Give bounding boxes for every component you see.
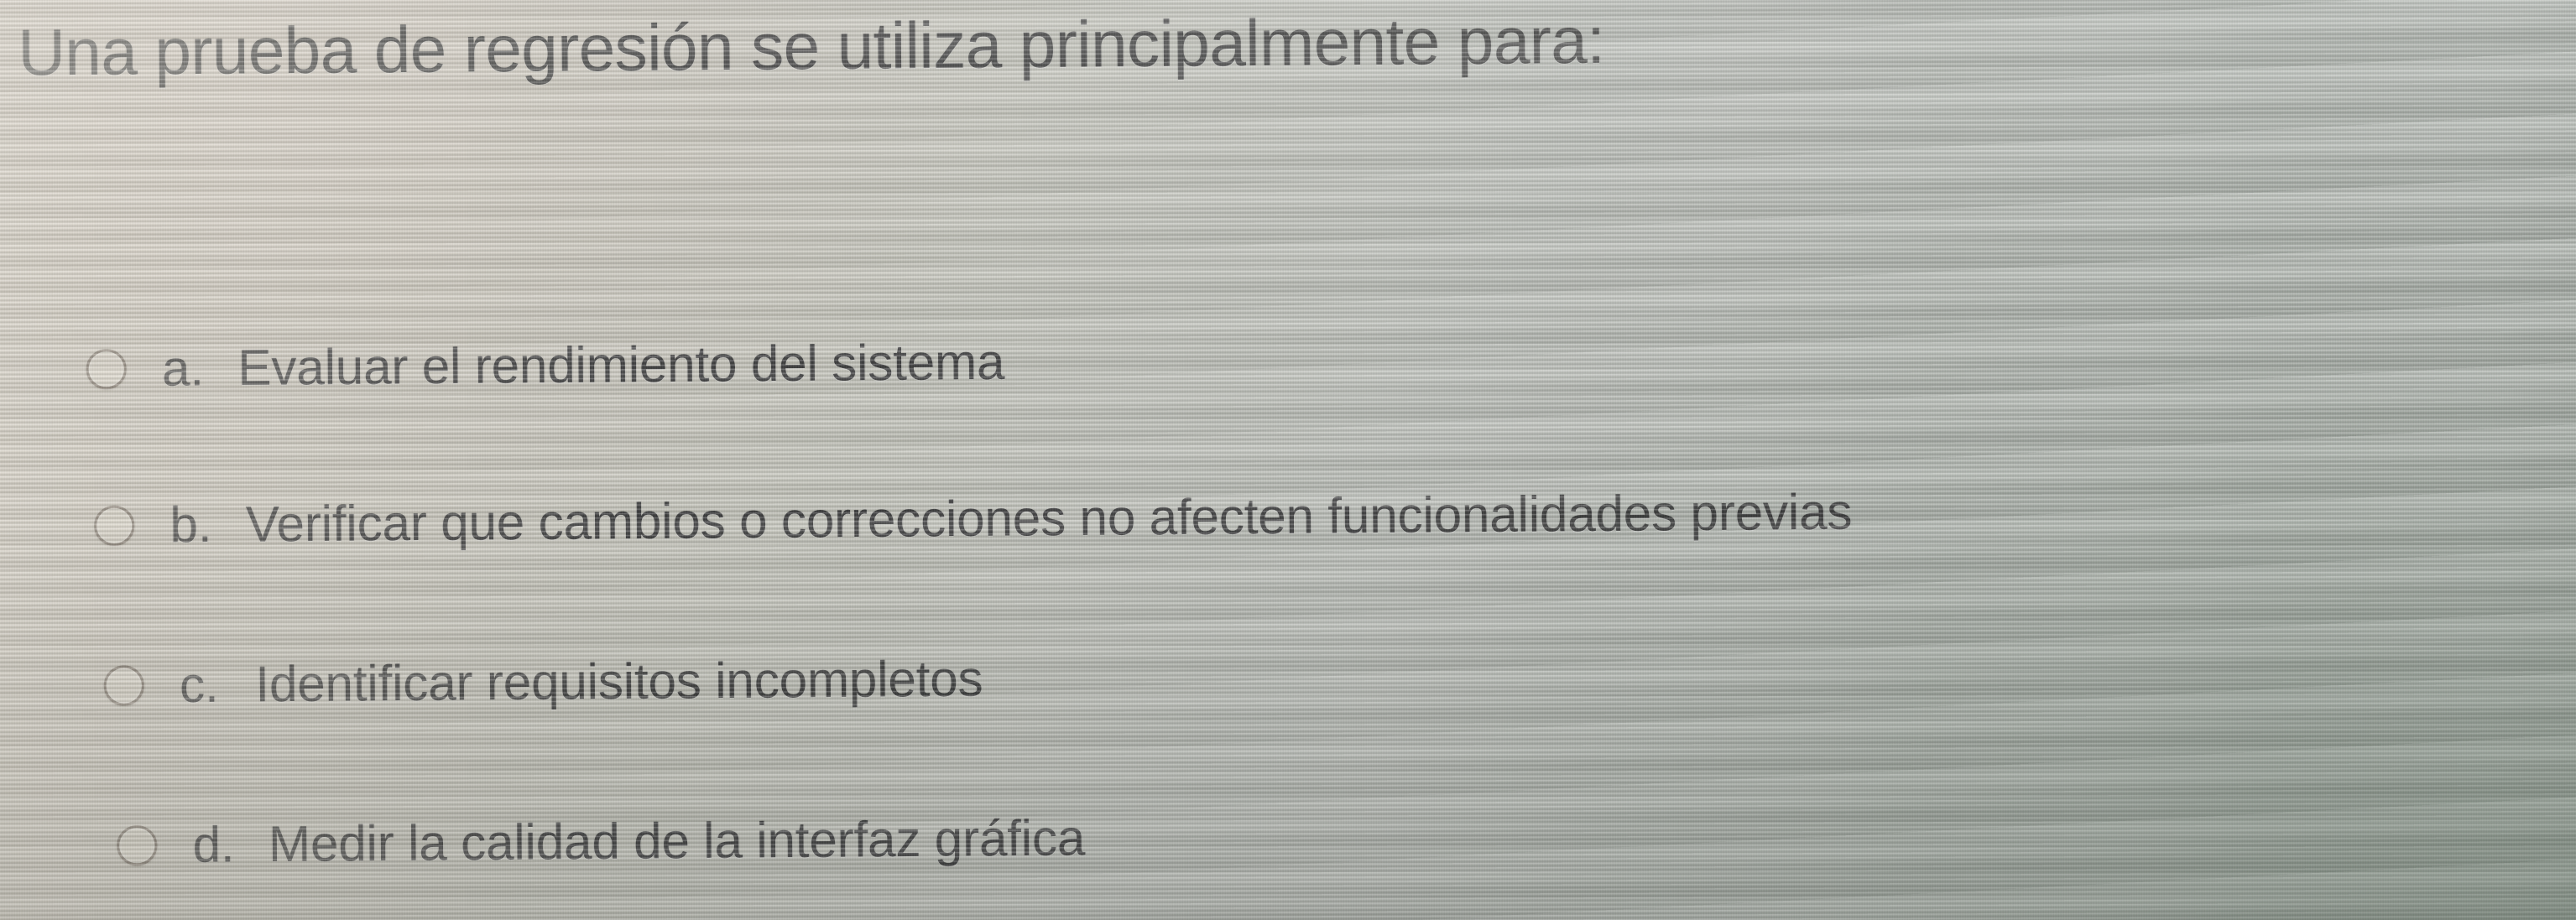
option-b-letter: b. (169, 500, 242, 551)
option-c[interactable]: c. Identificar requisitos incompletos (103, 653, 983, 710)
option-a-label: Evaluar el rendimiento del sistema (237, 337, 1004, 393)
option-d[interactable]: d. Medir la calidad de la interfaz gráfi… (117, 813, 1085, 871)
quiz-content: Una prueba de regresión se utiliza princ… (0, 0, 2576, 920)
radio-unselected-icon[interactable] (86, 349, 127, 390)
option-b[interactable]: b. Verificar que cambios o correcciones … (94, 486, 1853, 551)
radio-unselected-icon[interactable] (103, 665, 144, 706)
option-d-label: Medir la calidad de la interfaz gráfica (269, 813, 1086, 870)
radio-unselected-icon[interactable] (94, 506, 135, 547)
photographed-screen: Una prueba de regresión se utiliza princ… (0, 0, 2576, 920)
option-a-letter: a. (162, 343, 235, 394)
option-d-letter: d. (192, 819, 265, 871)
option-c-letter: c. (180, 659, 253, 710)
question-text: Una prueba de regresión se utiliza princ… (18, 7, 1605, 85)
option-c-label: Identificar requisitos incompletos (255, 653, 983, 709)
radio-unselected-icon[interactable] (117, 825, 158, 866)
option-a[interactable]: a. Evaluar el rendimiento del sistema (86, 337, 1004, 395)
option-b-label: Verificar que cambios o correcciones no … (246, 486, 1853, 549)
